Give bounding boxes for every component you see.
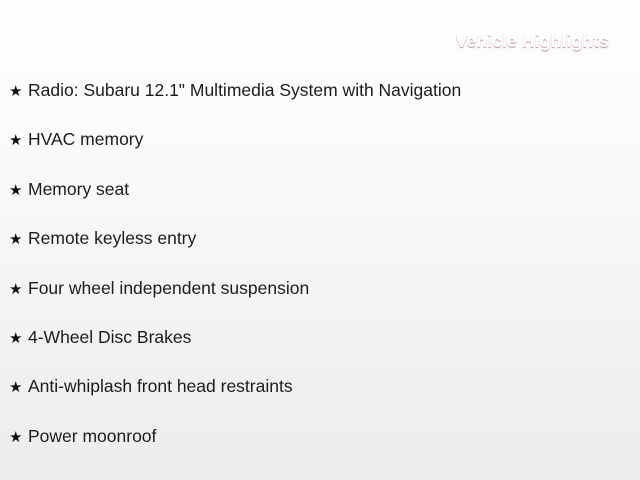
list-item-label: Remote keyless entry — [28, 230, 196, 248]
star-icon: ★ — [9, 84, 28, 99]
list-item: ★ 4-Wheel Disc Brakes — [0, 329, 640, 378]
list-item: ★ Remote keyless entry — [0, 230, 640, 279]
list-item: ★ Memory seat — [0, 181, 640, 230]
list-item-label: Memory seat — [28, 181, 129, 199]
star-icon: ★ — [9, 430, 28, 445]
list-item-label: Four wheel independent suspension — [28, 280, 309, 298]
vehicle-highlights-list: ★ Radio: Subaru 12.1" Multimedia System … — [0, 82, 640, 477]
list-item: ★ Four wheel independent suspension — [0, 280, 640, 329]
star-icon: ★ — [9, 380, 28, 395]
list-item: ★ Power moonroof — [0, 428, 640, 477]
star-icon: ★ — [9, 331, 28, 346]
list-item: ★ Anti-whiplash front head restraints — [0, 378, 640, 427]
list-item: ★ HVAC memory — [0, 131, 640, 180]
list-item-label: HVAC memory — [28, 131, 143, 149]
star-icon: ★ — [9, 183, 28, 198]
star-icon: ★ — [9, 133, 28, 148]
list-item-label: 4-Wheel Disc Brakes — [28, 329, 191, 347]
star-icon: ★ — [9, 232, 28, 247]
list-item-label: Radio: Subaru 12.1" Multimedia System wi… — [28, 82, 461, 100]
list-item: ★ Radio: Subaru 12.1" Multimedia System … — [0, 82, 640, 131]
page-title: Vehicle Highlights — [456, 31, 640, 52]
vehicle-highlights-panel: Vehicle Highlights ★ Radio: Subaru 12.1"… — [0, 0, 640, 480]
header-banner: Vehicle Highlights — [0, 0, 640, 82]
list-item-label: Anti-whiplash front head restraints — [28, 378, 293, 396]
star-icon: ★ — [9, 282, 28, 297]
list-item-label: Power moonroof — [28, 428, 156, 446]
